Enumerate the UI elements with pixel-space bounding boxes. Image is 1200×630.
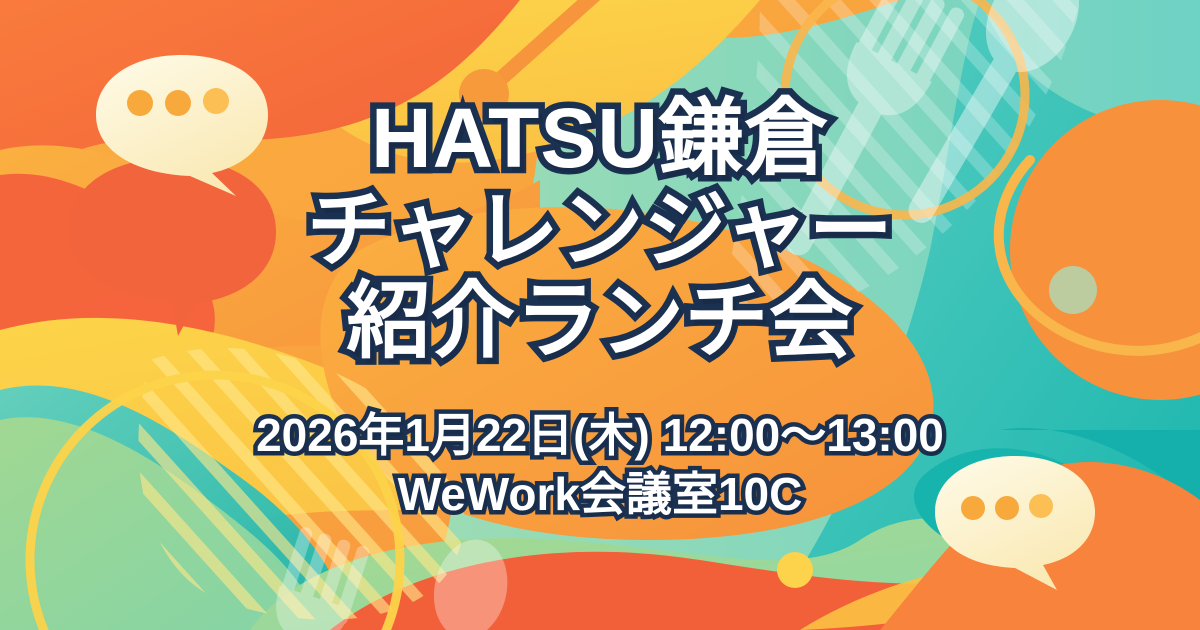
bubble-dot-1 xyxy=(127,90,153,116)
bubble-dot-3 xyxy=(203,88,229,114)
bubble-dot-2 xyxy=(165,90,191,116)
event-banner: HATSU鎌倉 チャレンジャー 紹介ランチ会 2026年1月22日(木) 12:… xyxy=(0,0,1200,630)
dot-yellow-bottom-center xyxy=(777,552,813,588)
background-decoration xyxy=(0,0,1200,630)
dot-mint-right xyxy=(1049,266,1097,314)
bubble-dot-4 xyxy=(961,496,985,520)
